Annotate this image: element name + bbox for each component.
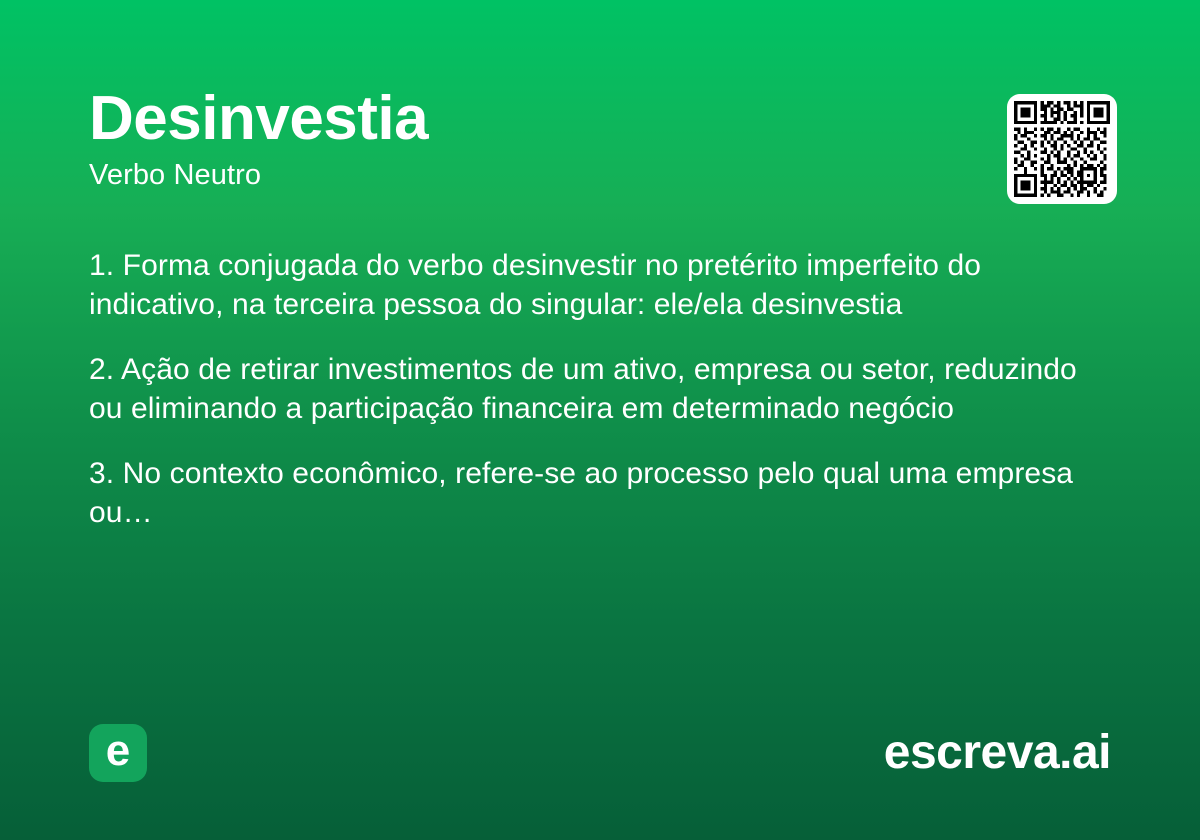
brand-logo-badge: e <box>89 724 147 782</box>
word-class-subtitle: Verbo Neutro <box>89 160 1111 192</box>
card-footer: e escreva.ai <box>89 723 1111 783</box>
brand-wordmark: escreva.ai <box>884 729 1111 777</box>
dictionary-card: Desinvestia Verbo Neutro <box>0 0 1200 840</box>
qr-code[interactable] <box>1007 94 1117 204</box>
definition-item: 1. Forma conjugada do verbo desinvestir … <box>89 246 1099 324</box>
definition-item: 3. No contexto econômico, refere-se ao p… <box>89 454 1099 532</box>
page-title: Desinvestia <box>89 88 1111 150</box>
card-header: Desinvestia Verbo Neutro <box>89 88 1111 192</box>
brand-logo-letter: e <box>106 729 130 773</box>
definitions-list: 1. Forma conjugada do verbo desinvestir … <box>89 246 1099 532</box>
qr-code-icon <box>1014 101 1110 197</box>
definition-item: 2. Ação de retirar investimentos de um a… <box>89 350 1099 428</box>
